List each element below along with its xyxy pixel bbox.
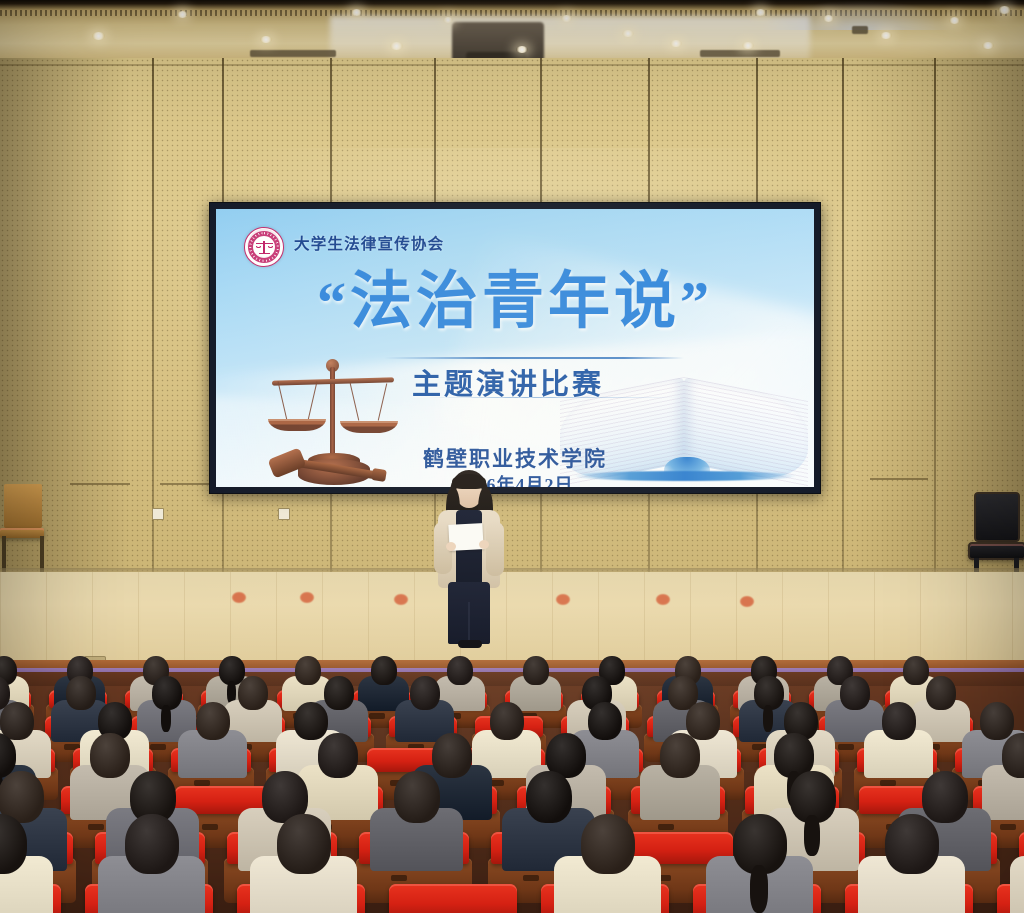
audience-member-head: [1002, 733, 1024, 778]
stage-position-marker: [232, 592, 246, 603]
ceiling-speaker: [852, 26, 868, 34]
audience-member: [982, 733, 1024, 807]
audience-member: [640, 733, 718, 807]
seat-tray-latch: [523, 875, 539, 881]
quote-close-mark: ”: [680, 270, 713, 335]
ceiling-projector: [452, 22, 544, 62]
ceiling-vent: [700, 50, 780, 57]
presentation-subtitle: 主题演讲比赛: [412, 361, 604, 403]
seat-tray-latch: [838, 744, 854, 750]
speaker-presenter: [424, 470, 514, 648]
audience-member-head: [371, 656, 397, 685]
speaker-shoes: [458, 640, 482, 648]
association-name-label: 大学生法律宣传协会: [294, 232, 444, 254]
stage-position-marker: [656, 594, 670, 605]
led-display-screen: 大学生法律宣传协会 “法治青年说” 主题演讲比赛 鹤壁职业技术学院 2026年4…: [216, 209, 814, 487]
seat-tray-latch: [391, 875, 407, 881]
auditorium-seat-cushion: [389, 884, 517, 913]
ceiling-downlight: [260, 36, 272, 43]
ceiling-downlight: [622, 30, 634, 37]
audience-member: [1010, 814, 1024, 912]
audience-member-head: [410, 676, 440, 710]
main-title-text: 法治青年说: [350, 268, 680, 336]
audience-member: [178, 702, 245, 766]
stage-position-marker: [300, 592, 314, 603]
ceiling-vent: [250, 50, 336, 57]
title-divider-line: [384, 357, 684, 359]
audience-member-torso: [1010, 856, 1024, 913]
audience-member-head: [125, 814, 179, 874]
audience-member: [0, 814, 51, 912]
ceiling-downlight: [516, 46, 528, 53]
auditorium-scene: 大学生法律宣传协会 “法治青年说” 主题演讲比赛 鹤壁职业技术学院 2026年4…: [0, 0, 1024, 913]
presentation-main-title: “法治青年说”: [216, 271, 814, 333]
audience-member-head: [882, 702, 916, 740]
seat-tray-latch: [150, 744, 166, 750]
event-date-label: 2026年4月2日: [216, 471, 814, 487]
scales-icon: [256, 239, 273, 256]
audience-member: [98, 814, 203, 912]
stage-position-marker: [556, 594, 570, 605]
wall-outlet: [278, 508, 290, 520]
audience-member-head: [523, 656, 549, 685]
stage-position-marker: [740, 596, 754, 607]
audience-member: [706, 814, 811, 912]
audience-member: [250, 814, 355, 912]
ceiling-downlight: [755, 9, 766, 16]
audience-member-head: [277, 814, 331, 874]
wall-outlet: [152, 508, 164, 520]
ceiling-downlight: [982, 42, 994, 49]
ceiling-downlight: [998, 6, 1011, 14]
seat-tray-latch: [658, 824, 674, 830]
led-display-bezel: 大学生法律宣传协会 “法治青年说” 主题演讲比赛 鹤壁职业技术学院 2026年4…: [209, 202, 821, 494]
audience-member: [858, 814, 963, 912]
audience-member-ponytail: [161, 705, 171, 732]
audience-member: [864, 702, 931, 766]
organization-label: 鹤壁职业技术学院: [216, 443, 814, 473]
seat-tray-latch: [194, 780, 210, 786]
ceiling-downlight: [390, 42, 403, 50]
ceiling-downlight: [561, 15, 572, 22]
audience-member-head: [885, 814, 939, 874]
quote-open-mark: “: [317, 270, 350, 335]
audience-member: [554, 814, 659, 912]
audience-member: [510, 656, 560, 704]
wall-panel-seam: [842, 58, 844, 578]
audience-member: [370, 771, 460, 856]
ceiling-downlight: [92, 32, 105, 40]
audience-member-head: [490, 702, 524, 740]
audience-seating-area: [0, 672, 1024, 913]
ceiling-downlight: [880, 32, 892, 39]
audience-member-head: [394, 771, 440, 823]
audience-member-ponytail: [750, 865, 768, 913]
association-emblem-icon: [244, 227, 284, 267]
audience-member: [395, 676, 453, 732]
ceiling-downlight: [443, 17, 453, 23]
seat-tray-latch: [880, 780, 896, 786]
seat-tray-latch: [202, 824, 218, 830]
ceiling-downlight: [742, 42, 754, 49]
ceiling-downlight: [177, 11, 188, 18]
stage-position-marker: [394, 594, 408, 605]
wall-panel-seam: [152, 58, 154, 578]
ceiling-downlight: [670, 40, 682, 47]
seat-tray-latch: [369, 713, 385, 719]
audience-member-head: [660, 733, 700, 778]
audience-member-head: [581, 814, 635, 874]
ceiling-downlight: [823, 15, 834, 22]
ceiling-downlight: [351, 9, 362, 16]
audience-member-head: [196, 702, 230, 740]
ceiling-downlight: [949, 17, 960, 24]
ceiling: [0, 0, 1024, 62]
